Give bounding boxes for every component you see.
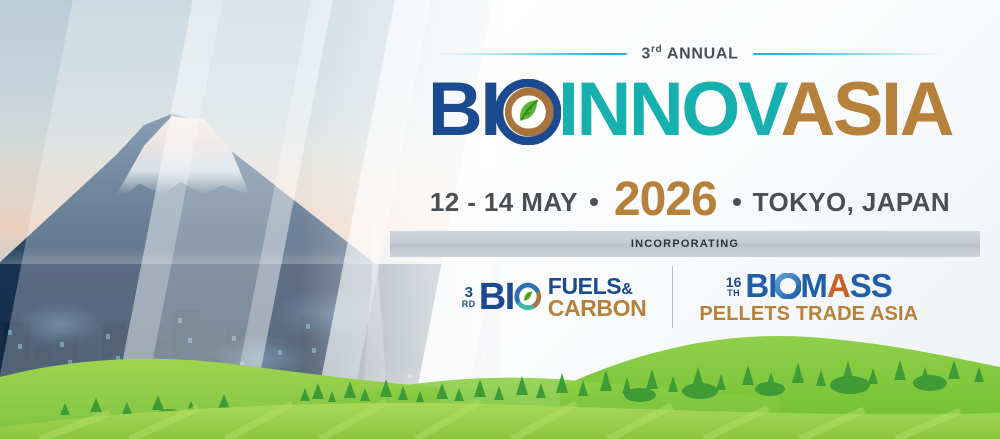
globe-o-icon	[775, 271, 801, 297]
event-year: 2026	[614, 173, 717, 226]
event-banner: 3rd ANNUAL BIINNOVASIA 12 - 14 MAY2026TO…	[0, 0, 1000, 439]
biomass-bi: BI	[745, 267, 776, 304]
annual-ordinal-suffix: rd	[651, 44, 662, 55]
sublogo-biofuels-carbon: 3 RD BI FUELS& CARBON	[462, 275, 647, 319]
rule-right	[753, 53, 943, 55]
rule-left	[437, 53, 627, 55]
recycle-leaf-circle-icon	[511, 280, 544, 313]
sublogo-divider	[672, 266, 673, 328]
event-dateline: 12 - 14 MAY2026TOKYO, JAPAN	[380, 172, 1000, 227]
bio-leaf-circle-icon	[495, 79, 561, 145]
event-wordmark: BIINNOVASIA	[380, 72, 1000, 148]
biofuels-ordinal-suffix: RD	[462, 300, 476, 309]
biomass-subtitle: PELLETS TRADE ASIA	[699, 303, 918, 326]
biomass-ss: SS	[850, 267, 892, 304]
incorporating-band: INCORPORATING	[390, 231, 980, 257]
event-dates: 12 - 14 MAY	[430, 187, 578, 217]
banner-content: 3rd ANNUAL BIINNOVASIA 12 - 14 MAY2026TO…	[380, 0, 1000, 439]
annual-ordinal: 3	[641, 45, 651, 62]
annual-label: 3rd ANNUAL	[641, 44, 738, 63]
biofuels-bi: BI	[479, 276, 514, 318]
biomass-accent-a: A	[827, 267, 850, 304]
sublogo-biomass-pellets: 16 TH BIMASS PELLETS TRADE ASIA	[699, 269, 918, 326]
biofuels-ordinal: 3 RD	[462, 285, 476, 309]
event-location: TOKYO, JAPAN	[753, 187, 950, 217]
biomass-wordmark: BIMASS	[745, 269, 891, 302]
wordmark-asia: ASIA	[780, 67, 952, 152]
biofuels-bio-text: BI	[479, 278, 542, 316]
biomass-ordinal: 16 TH	[726, 275, 742, 298]
wordmark-bio: BI	[428, 67, 499, 152]
biomass-m: M	[800, 267, 827, 304]
biofuels-ordinal-number: 3	[465, 285, 473, 300]
sublogos-row: 3 RD BI FUELS& CARBON 16 TH BIMASS	[380, 266, 1000, 328]
biomass-ordinal-suffix: TH	[727, 289, 740, 298]
dateline-dot	[733, 198, 741, 206]
biofuels-wordstack: FUELS& CARBON	[548, 275, 647, 319]
incorporating-label: INCORPORATING	[631, 238, 739, 250]
biofuels-fuels-line: FUELS&	[548, 275, 647, 297]
wordmark-innov: INNOV	[558, 67, 781, 152]
dateline-dot	[590, 198, 598, 206]
annual-row: 3rd ANNUAL	[380, 44, 1000, 63]
biomass-ordinal-number: 16	[726, 275, 742, 289]
biomass-top-row: 16 TH BIMASS	[726, 269, 892, 302]
annual-text: ANNUAL	[667, 45, 739, 62]
biofuels-carbon: CARBON	[548, 297, 647, 319]
